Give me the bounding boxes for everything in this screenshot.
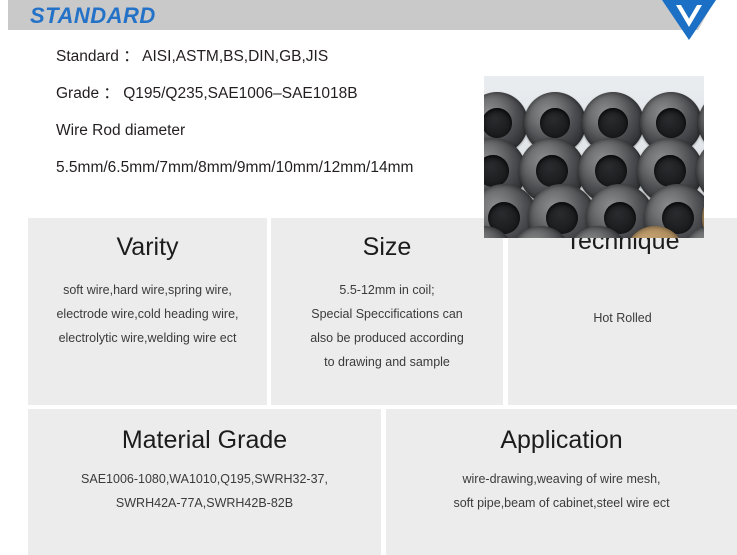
panel-material-grade-line: SWRH42A-77A,SWRH42B-82B [28, 491, 381, 515]
spec-line-diameter-values: 5.5mm/6.5mm/7mm/8mm/9mm/10mm/12mm/14mm [56, 159, 486, 176]
spec-line-standard: Standard ： AISI,ASTM,BS,DIN,GB,JIS [56, 48, 486, 65]
product-photo [484, 76, 704, 238]
panel-material-grade-title: Material Grade [28, 425, 381, 455]
panel-material-grade-body: SAE1006-1080,WA1010,Q195,SWRH32-37, SWRH… [28, 467, 381, 515]
panel-size: Size 5.5-12mm in coil; Special Speccific… [271, 218, 503, 405]
specification-section: Standard ： AISI,ASTM,BS,DIN,GB,JIS Grade… [0, 36, 737, 208]
panel-varity: Varity soft wire,hard wire,spring wire, … [28, 218, 267, 405]
spec-line-diameter-label: Wire Rod diameter [56, 122, 486, 139]
panel-technique: Technique Hot Rolled [508, 218, 737, 405]
panel-size-line: to drawing and sample [271, 350, 503, 374]
panel-material-grade-line: SAE1006-1080,WA1010,Q195,SWRH32-37, [28, 467, 381, 491]
panel-varity-body: soft wire,hard wire,spring wire, electro… [28, 278, 267, 350]
panel-technique-body: Hot Rolled [508, 306, 737, 330]
specification-list: Standard ： AISI,ASTM,BS,DIN,GB,JIS Grade… [56, 48, 486, 176]
panel-varity-line: soft wire,hard wire,spring wire, [28, 278, 267, 302]
panel-size-line: Special Speccifications can [271, 302, 503, 326]
panel-material-grade: Material Grade SAE1006-1080,WA1010,Q195,… [28, 409, 381, 555]
panel-application-body: wire-drawing,weaving of wire mesh, soft … [386, 467, 737, 515]
page-title: STANDARD [30, 1, 156, 30]
panel-application-line: soft pipe,beam of cabinet,steel wire ect [386, 491, 737, 515]
panel-varity-line: electrode wire,cold heading wire, [28, 302, 267, 326]
panel-application-title: Application [386, 425, 737, 455]
panel-application-line: wire-drawing,weaving of wire mesh, [386, 467, 737, 491]
spec-line-grade: Grade ： Q195/Q235,SAE1006–SAE1018B [56, 85, 486, 102]
panel-varity-line: electrolytic wire,welding wire ect [28, 326, 267, 350]
page-header: STANDARD [0, 0, 737, 30]
panel-size-title: Size [271, 232, 503, 262]
wire-rod-coil [698, 92, 704, 154]
panel-technique-line: Hot Rolled [508, 306, 737, 330]
panel-application: Application wire-drawing,weaving of wire… [386, 409, 737, 555]
panel-size-line: also be produced according [271, 326, 503, 350]
panel-size-body: 5.5-12mm in coil; Special Speccification… [271, 278, 503, 374]
panel-varity-title: Varity [28, 232, 267, 262]
panel-size-line: 5.5-12mm in coil; [271, 278, 503, 302]
